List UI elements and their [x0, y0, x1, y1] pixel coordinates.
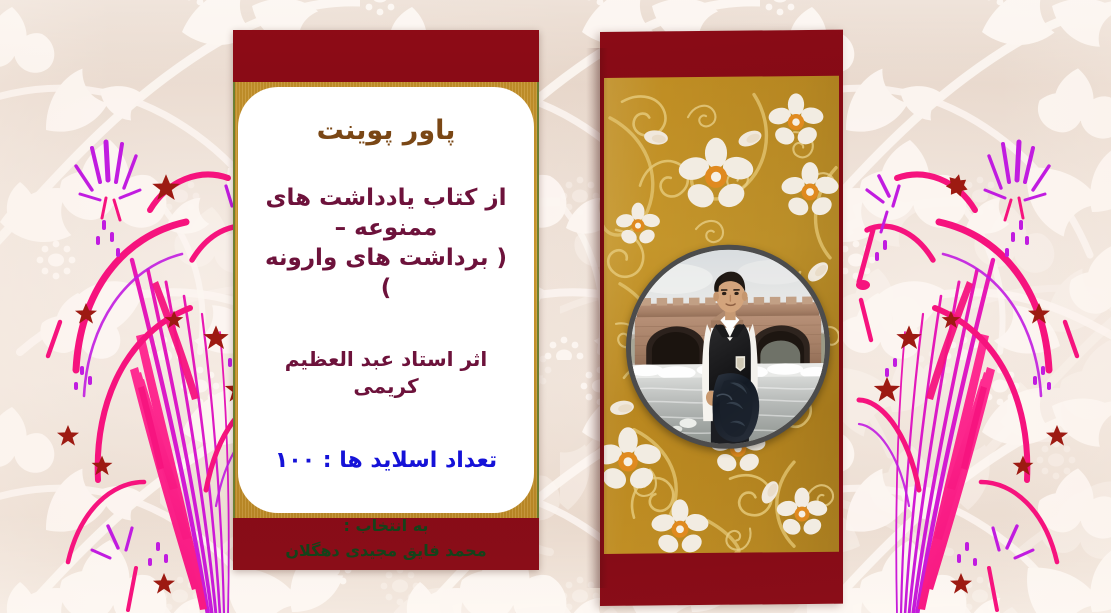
student-photo-bubble [626, 244, 830, 450]
damask-floral-background [0, 0, 1111, 613]
student-photo-svg [631, 249, 825, 445]
powerpoint-label: پاور پوینت [262, 115, 510, 146]
right-panel-gold-face [604, 76, 839, 554]
slide-count-label: تعداد اسلاید ها : ۱۰۰ [262, 448, 510, 474]
greeting-card-left-panel: پاور پوینت از کتاب یادداشت های ممنوعه – … [233, 30, 539, 570]
book-title-line-3: ( برداشت های وارونه ) [262, 244, 510, 304]
book-author-line-1: اثر استاد عبد العظیم [285, 347, 488, 371]
slide-canvas: پاور پوینت از کتاب یادداشت های ممنوعه – … [0, 0, 1111, 613]
selected-by-name: محمد فایق مجیدی دهگلان [262, 539, 510, 564]
selected-by-block: به انتخاب : محمد فایق مجیدی دهگلان [262, 514, 510, 564]
left-panel-white-face: پاور پوینت از کتاب یادداشت های ممنوعه – … [238, 87, 534, 513]
greeting-card-right-panel [600, 30, 843, 606]
book-title: از کتاب یادداشت های ممنوعه – ( برداشت ها… [262, 184, 510, 304]
book-author: اثر استاد عبد العظیم کریمی [262, 346, 510, 401]
book-title-line-1: از کتاب یادداشت های [265, 185, 506, 211]
book-author-line-2: کریمی [353, 374, 418, 398]
book-title-line-2: ممنوعه – [262, 214, 510, 244]
title-text-block: پاور پوینت از کتاب یادداشت های ممنوعه – … [238, 87, 534, 513]
selected-by-label: به انتخاب : [344, 516, 429, 535]
damask-pattern-svg [0, 0, 1111, 613]
